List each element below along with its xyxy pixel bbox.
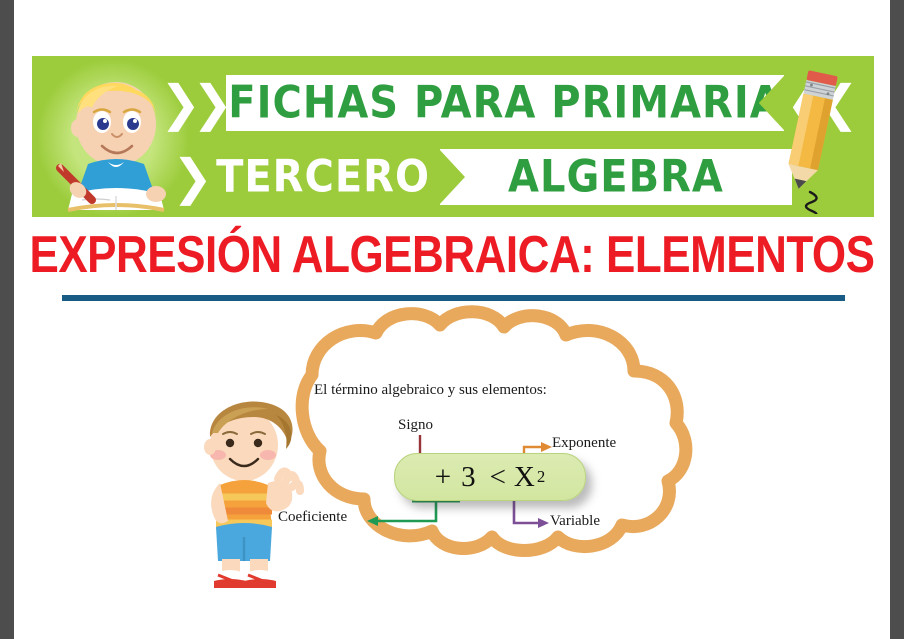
label-variable: Variable	[550, 513, 600, 530]
banner-row-grade: ❯ TERCERO ALGEBRA	[172, 146, 852, 208]
banner-grade-text: TERCERO	[216, 151, 430, 203]
cartoon-boy-waving-icon	[192, 387, 312, 592]
cloud-diagram-area: El término algebraico y sus elementos:	[14, 305, 890, 605]
algebraic-term: + 3 < X2	[395, 454, 585, 500]
title-underline-rule	[62, 295, 845, 301]
term-exponent: 2	[537, 467, 545, 487]
ribbon-primaria: FICHAS PARA PRIMARIA	[226, 75, 784, 131]
page-title: EXPRESIÓN ALGEBRAICA: ELEMENTOS	[14, 226, 890, 285]
expression-pill: + 3 < X2	[394, 453, 586, 501]
coeficiente-arrow-icon	[367, 501, 460, 526]
grade-wrap: TERCERO	[206, 149, 440, 205]
banner-line1-text: FICHAS PARA PRIMARIA	[228, 77, 781, 129]
banner-subject-text: ALGEBRA	[508, 151, 724, 203]
label-signo: Signo	[398, 417, 433, 434]
ribbon-subject: ALGEBRA	[440, 149, 792, 205]
chevron-right-icon-2: ❯	[172, 153, 204, 202]
term-coefficient: 3	[461, 461, 478, 494]
term-sign: +	[435, 461, 453, 494]
banner-row-primaria: ❯❯ FICHAS PARA PRIMARIA ❮❮	[160, 72, 850, 134]
header-banner: ❯❯ FICHAS PARA PRIMARIA ❮❮ ❯ TERCERO ALG…	[32, 56, 874, 217]
cloud-content: El término algebraico y sus elementos:	[252, 305, 702, 595]
chevron-right-icon: ❯❯	[160, 79, 224, 128]
label-exponente: Exponente	[552, 435, 616, 452]
term-operator: <	[490, 461, 508, 494]
label-connectors	[252, 305, 702, 595]
worksheet-page: ❯❯ FICHAS PARA PRIMARIA ❮❮ ❯ TERCERO ALG…	[14, 0, 890, 639]
term-variable: X	[514, 461, 537, 494]
pencil-icon	[764, 66, 856, 214]
